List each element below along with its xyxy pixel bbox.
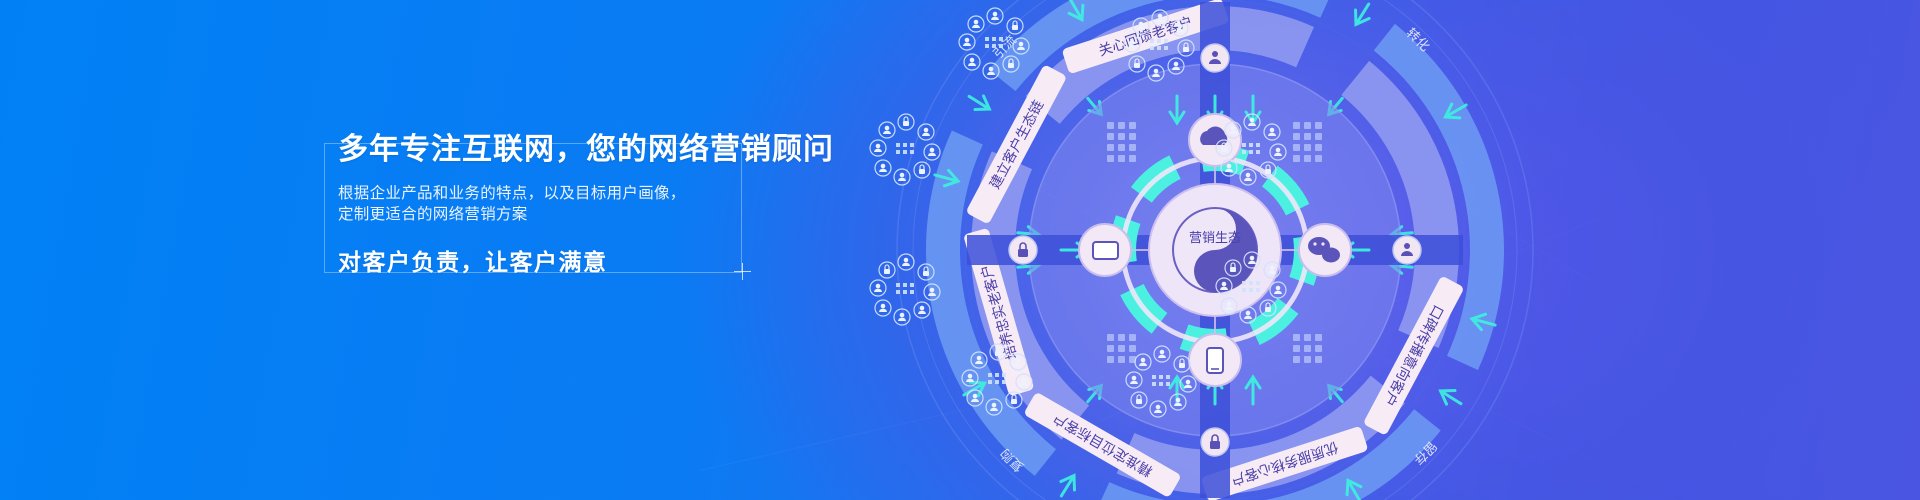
user-group-cluster: [1120, 6, 1200, 86]
grid-dots-icon: [988, 373, 1006, 384]
spoke-node-top: [1201, 44, 1229, 72]
subtitle-block: 根据企业产品和业务的特点，以及目标用户画像， 定制更适合的网络营销方案: [338, 183, 768, 225]
copy-block: 多年专注互联网，您的网络营销顾问 根据企业产品和业务的特点，以及目标用户画像， …: [338, 130, 768, 277]
tagline: 对客户负责，让客户满意: [338, 243, 768, 277]
spoke-node-left: [1009, 236, 1037, 264]
user-group-cluster: [1212, 110, 1292, 190]
user-group-cluster: [1212, 248, 1292, 328]
grid-dots-icon: [1242, 281, 1260, 292]
spoke-node-bottom: [1201, 428, 1229, 456]
user-group-cluster: [958, 340, 1038, 420]
hub-node-chat: [1299, 224, 1351, 276]
grid-dots-icon: [896, 283, 914, 294]
subtitle-line-1: 根据企业产品和业务的特点，以及目标用户画像，: [338, 183, 768, 204]
grid-dots-icon: [1152, 375, 1170, 386]
crosshair-marker-icon: [734, 263, 751, 280]
monitor-icon: [1093, 242, 1118, 259]
grid-dots-icon: [1150, 39, 1168, 50]
hub-node-monitor: [1079, 224, 1131, 276]
grid-dots-icon: [896, 143, 914, 154]
marketing-banner: 多年专注互联网，您的网络营销顾问 根据企业产品和业务的特点，以及目标用户画像， …: [0, 0, 1920, 500]
user-group-cluster: [866, 110, 946, 190]
user-group-cluster: [866, 250, 946, 330]
grid-dots-icon: [985, 37, 1003, 48]
user-group-cluster: [1122, 342, 1202, 422]
spoke-node-right: [1393, 236, 1421, 264]
hub-label: 营销生态: [1189, 230, 1241, 245]
mobile-icon: [1207, 348, 1223, 373]
grid-dots-icon: [1242, 143, 1260, 154]
user-group-cluster: [955, 4, 1035, 84]
page-title: 多年专注互联网，您的网络营销顾问: [338, 130, 768, 170]
subtitle-line-2: 定制更适合的网络营销方案: [338, 204, 768, 225]
